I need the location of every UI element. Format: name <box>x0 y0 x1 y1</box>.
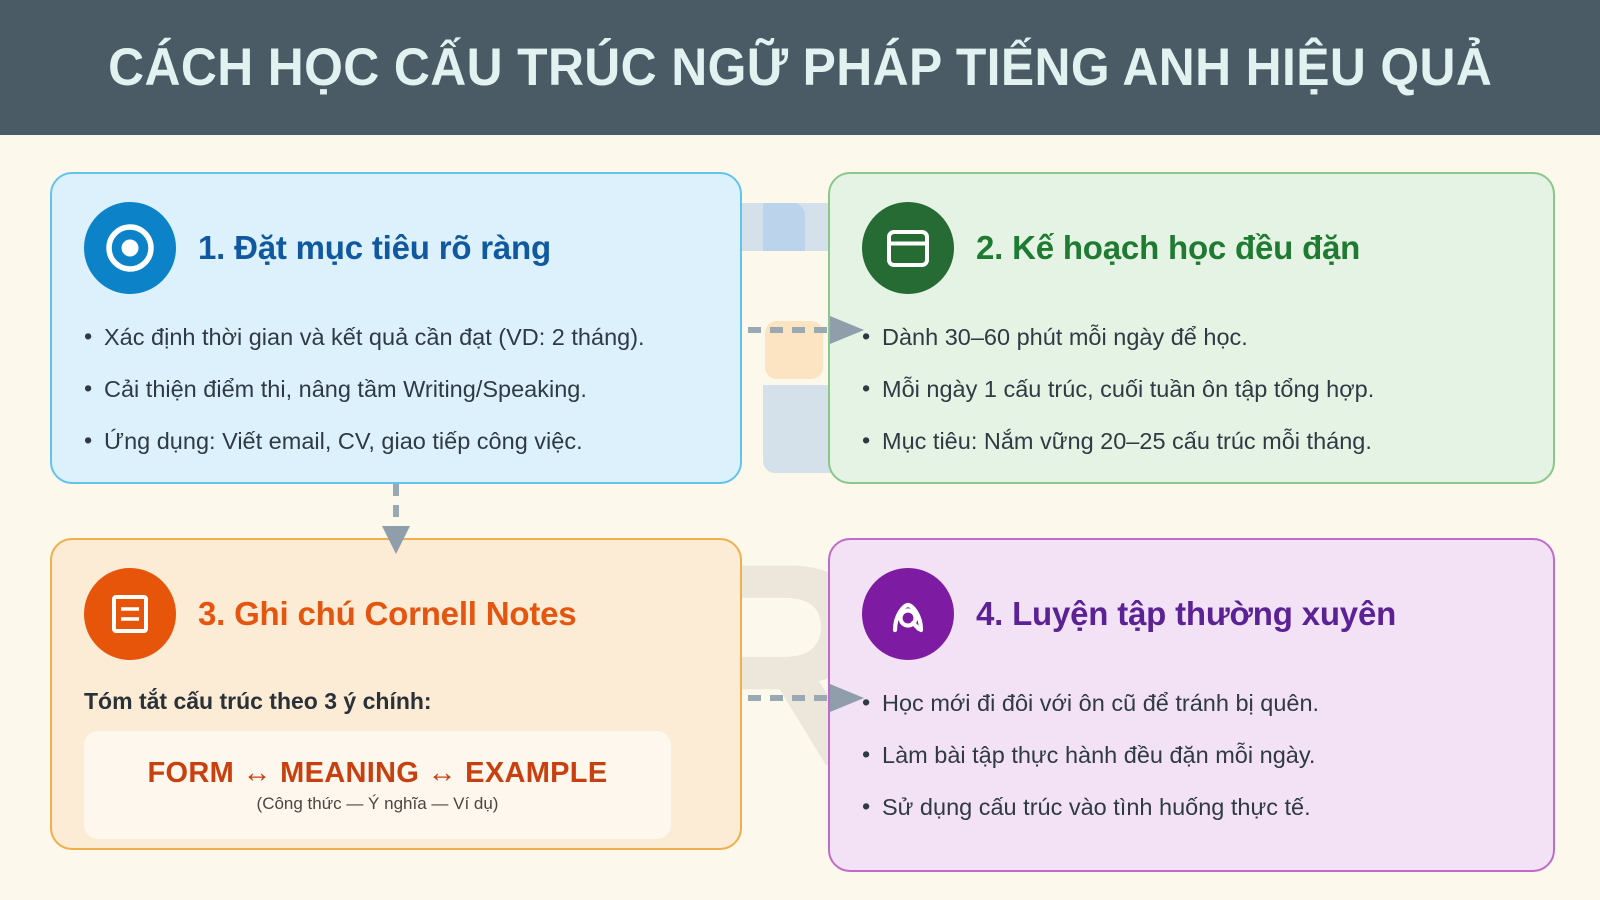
page-title: CÁCH HỌC CẤU TRÚC NGỮ PHÁP TIẾNG ANH HIỆ… <box>108 37 1492 98</box>
person-practice-icon <box>862 568 954 660</box>
list-item: Làm bài tập thực hành đều đặn mỗi ngày. <box>862 740 1523 770</box>
bullet-list: Xác định thời gian và kết quả cần đạt (V… <box>84 322 710 456</box>
notes-icon <box>84 568 176 660</box>
card-set-clear-goals[interactable]: 1. Đặt mục tiêu rõ ràng Xác định thời gi… <box>50 172 742 484</box>
arrow-card3-to-card4 <box>748 680 866 716</box>
arrow-card1-to-card3 <box>378 484 414 556</box>
list-item: Dành 30–60 phút mỗi ngày để học. <box>862 322 1523 352</box>
card-header: 4. Luyện tập thường xuyên <box>862 566 1523 662</box>
bullet-list: Dành 30–60 phút mỗi ngày để học. Mỗi ngà… <box>862 322 1523 456</box>
list-item: Học mới đi đôi với ôn cũ để tránh bị quê… <box>862 688 1523 718</box>
bullet-list: Học mới đi đôi với ôn cũ để tránh bị quê… <box>862 688 1523 822</box>
infographic-canvas: PREP CÁCH HỌC CẤU TRÚC NGỮ PHÁP TIẾNG AN… <box>0 0 1600 900</box>
target-icon <box>84 202 176 294</box>
card-header: 2. Kế hoạch học đều đặn <box>862 200 1523 296</box>
list-item: Mỗi ngày 1 cấu trúc, cuối tuần ôn tập tổ… <box>862 374 1523 404</box>
list-item: Xác định thời gian và kết quả cần đạt (V… <box>84 322 710 352</box>
card-header: 3. Ghi chú Cornell Notes <box>84 566 710 662</box>
formula-main-text: FORM ↔ MEANING ↔ EXAMPLE <box>148 757 608 790</box>
arrow-card1-to-card2 <box>748 312 866 348</box>
formula-sub-text: (Công thức — Ý nghĩa — Ví dụ) <box>257 794 499 814</box>
card-regular-study-plan[interactable]: 2. Kế hoạch học đều đặn Dành 30–60 phút … <box>828 172 1555 484</box>
card-cornell-notes[interactable]: 3. Ghi chú Cornell Notes Tóm tắt cấu trú… <box>50 538 742 850</box>
list-item: Ứng dụng: Viết email, CV, giao tiếp công… <box>84 426 710 456</box>
card-title: 4. Luyện tập thường xuyên <box>976 595 1396 633</box>
calendar-icon <box>862 202 954 294</box>
card-title: 2. Kế hoạch học đều đặn <box>976 229 1360 267</box>
formula-box: FORM ↔ MEANING ↔ EXAMPLE (Công thức — Ý … <box>84 731 671 839</box>
list-item: Sử dụng cấu trúc vào tình huống thực tế. <box>862 792 1523 822</box>
card-header: 1. Đặt mục tiêu rõ ràng <box>84 200 710 296</box>
list-item: Cải thiện điểm thi, nâng tầm Writing/Spe… <box>84 374 710 404</box>
card-title: 3. Ghi chú Cornell Notes <box>198 595 576 633</box>
card-title: 1. Đặt mục tiêu rõ ràng <box>198 229 551 267</box>
card-regular-practice[interactable]: 4. Luyện tập thường xuyên Học mới đi đôi… <box>828 538 1555 872</box>
summary-label: Tóm tắt cấu trúc theo 3 ý chính: <box>84 688 710 715</box>
list-item: Mục tiêu: Nắm vững 20–25 cấu trúc mỗi th… <box>862 426 1523 456</box>
header-bar: CÁCH HỌC CẤU TRÚC NGỮ PHÁP TIẾNG ANH HIỆ… <box>0 0 1600 135</box>
